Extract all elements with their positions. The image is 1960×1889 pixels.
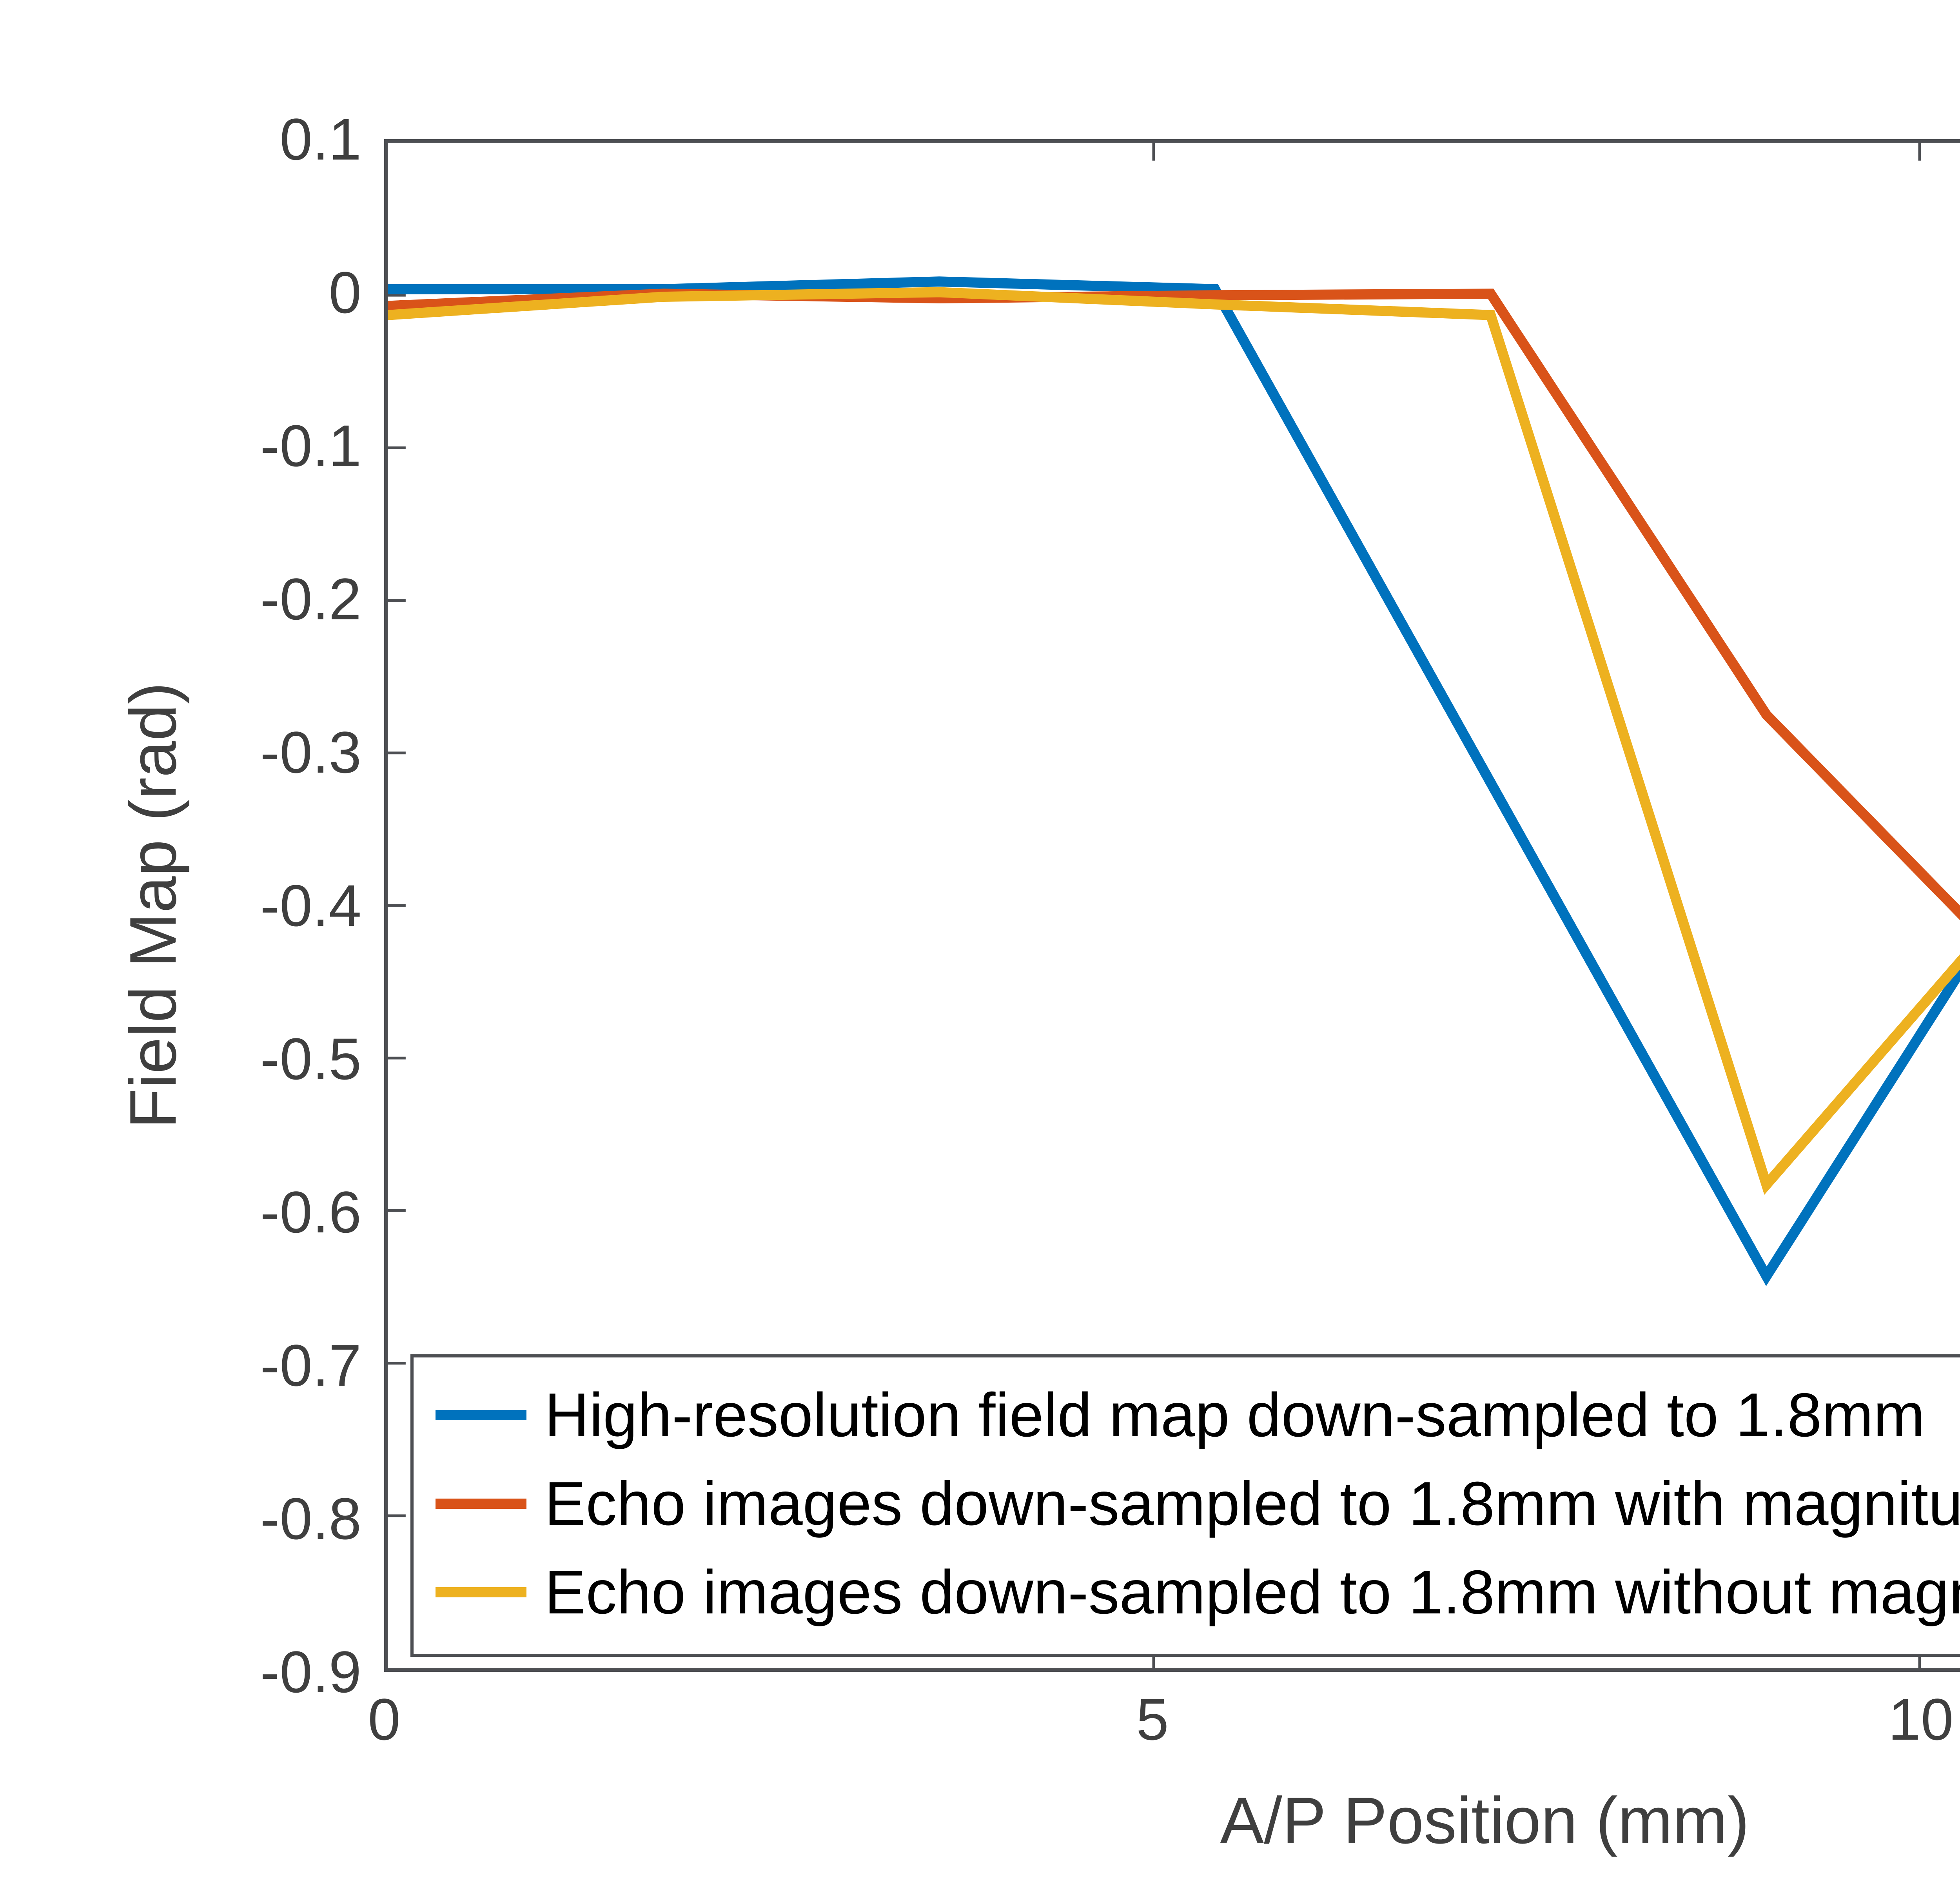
y-tick-label: -0.2 <box>260 570 361 628</box>
y-tick-label: -0.8 <box>260 1489 361 1548</box>
y-axis-title: Field Map (rad) <box>120 682 186 1129</box>
legend-color-swatch-series-2 <box>436 1499 526 1509</box>
series-line-1 <box>388 281 1960 1276</box>
y-tick-label: 0.1 <box>279 110 361 169</box>
legend-label-series-1: High-resolution field map down-sampled t… <box>544 1384 1925 1446</box>
y-tick-label: 0 <box>329 263 361 322</box>
legend-color-swatch-series-1 <box>436 1410 526 1420</box>
y-tick-label: -0.4 <box>260 876 361 935</box>
x-axis-title: A/P Position (mm) <box>0 1787 1960 1853</box>
legend-item[interactable]: Echo images down-sampled to 1.8mm withou… <box>414 1548 1960 1637</box>
y-tick-label: -0.9 <box>260 1642 361 1701</box>
series-line-3 <box>388 292 1960 1185</box>
y-tick-label: -0.1 <box>260 416 361 475</box>
legend-color-swatch-series-3 <box>436 1587 526 1597</box>
figure-canvas: 0.10-0.1-0.2-0.3-0.4-0.5-0.6-0.7-0.8-0.9… <box>0 0 1960 1889</box>
y-tick-label: -0.7 <box>260 1336 361 1395</box>
legend-item[interactable]: Echo images down-sampled to 1.8mm with m… <box>414 1459 1960 1548</box>
y-tick-label: -0.3 <box>260 723 361 782</box>
x-tick-label: 5 <box>1136 1690 1169 1749</box>
y-tick-label: -0.6 <box>260 1183 361 1241</box>
series-line-2 <box>388 294 1960 997</box>
x-tick-label: 10 <box>1888 1690 1954 1749</box>
y-tick-label: -0.5 <box>260 1029 361 1088</box>
x-tick-label: 0 <box>368 1690 400 1749</box>
legend-label-series-3: Echo images down-sampled to 1.8mm withou… <box>544 1561 1960 1623</box>
legend-item[interactable]: High-resolution field map down-sampled t… <box>414 1371 1960 1459</box>
legend-box: High-resolution field map down-sampled t… <box>410 1354 1960 1657</box>
legend-label-series-2: Echo images down-sampled to 1.8mm with m… <box>544 1473 1960 1535</box>
series-lines-group <box>388 281 1960 1276</box>
